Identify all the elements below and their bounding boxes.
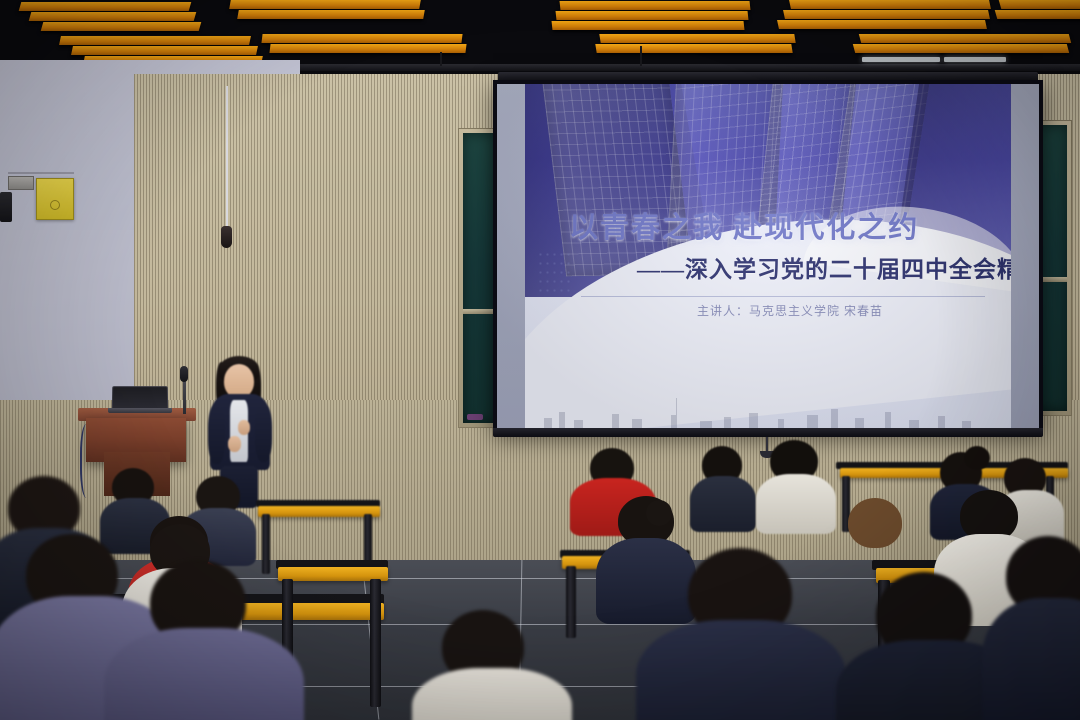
laptop-keyboard[interactable] xyxy=(108,408,172,413)
navy-puffer-coat xyxy=(636,620,846,720)
presenter-hand-right xyxy=(238,420,250,435)
hanging-mic-cable xyxy=(226,86,228,228)
podium-mic-stand xyxy=(183,378,186,414)
ceiling-strip-light-2 xyxy=(944,57,1006,62)
wall-mounted-box xyxy=(8,176,34,190)
audience-member-near-right-3 xyxy=(982,536,1080,720)
presenter-hand-left xyxy=(228,436,241,452)
projection-screen[interactable]: 以青春之我 赴现代化之约 ——深入学习党的二十届四中全会精神 主讲人：马克思主义… xyxy=(493,80,1043,432)
slide-subtitle: ——深入学习党的二十届四中全会精神 xyxy=(637,250,1011,284)
audience-member-back-1 xyxy=(690,446,756,520)
wall-speaker-icon xyxy=(0,192,12,222)
screen-bottom-bar xyxy=(493,428,1043,437)
laptop-screen[interactable] xyxy=(112,386,168,410)
presenter-head xyxy=(224,364,254,398)
lecture-hall-photo: 以青春之我 赴现代化之约 ——深入学习党的二十届四中全会精神 主讲人：马克思主义… xyxy=(0,0,1080,720)
slide-presenter-line: 主讲人：马克思主义学院 宋春苗 xyxy=(697,302,883,319)
slide-title: 以青春之我 赴现代化之约 xyxy=(569,204,919,246)
slide-content: 以青春之我 赴现代化之约 ——深入学习党的二十届四中全会精神 主讲人：马克思主义… xyxy=(525,84,1011,428)
sign-symbol-icon xyxy=(50,200,60,210)
podium-microphone-icon xyxy=(180,366,188,382)
chalk-tray-eraser xyxy=(467,414,483,420)
hanging-microphone-icon xyxy=(221,226,232,248)
wall-conduit xyxy=(8,172,74,174)
slide-skyline-silhouette xyxy=(525,394,1011,428)
slide-dot-grid xyxy=(537,250,573,296)
ceiling-strip-light xyxy=(862,57,940,62)
audience-member-back-2 xyxy=(756,440,836,520)
wall-notice-sign xyxy=(36,178,74,220)
audience-member-near-center xyxy=(104,560,304,720)
audience-member-near-right-1 xyxy=(636,548,846,720)
slide-divider xyxy=(581,296,985,297)
audience-member-near-far-right xyxy=(412,610,572,720)
